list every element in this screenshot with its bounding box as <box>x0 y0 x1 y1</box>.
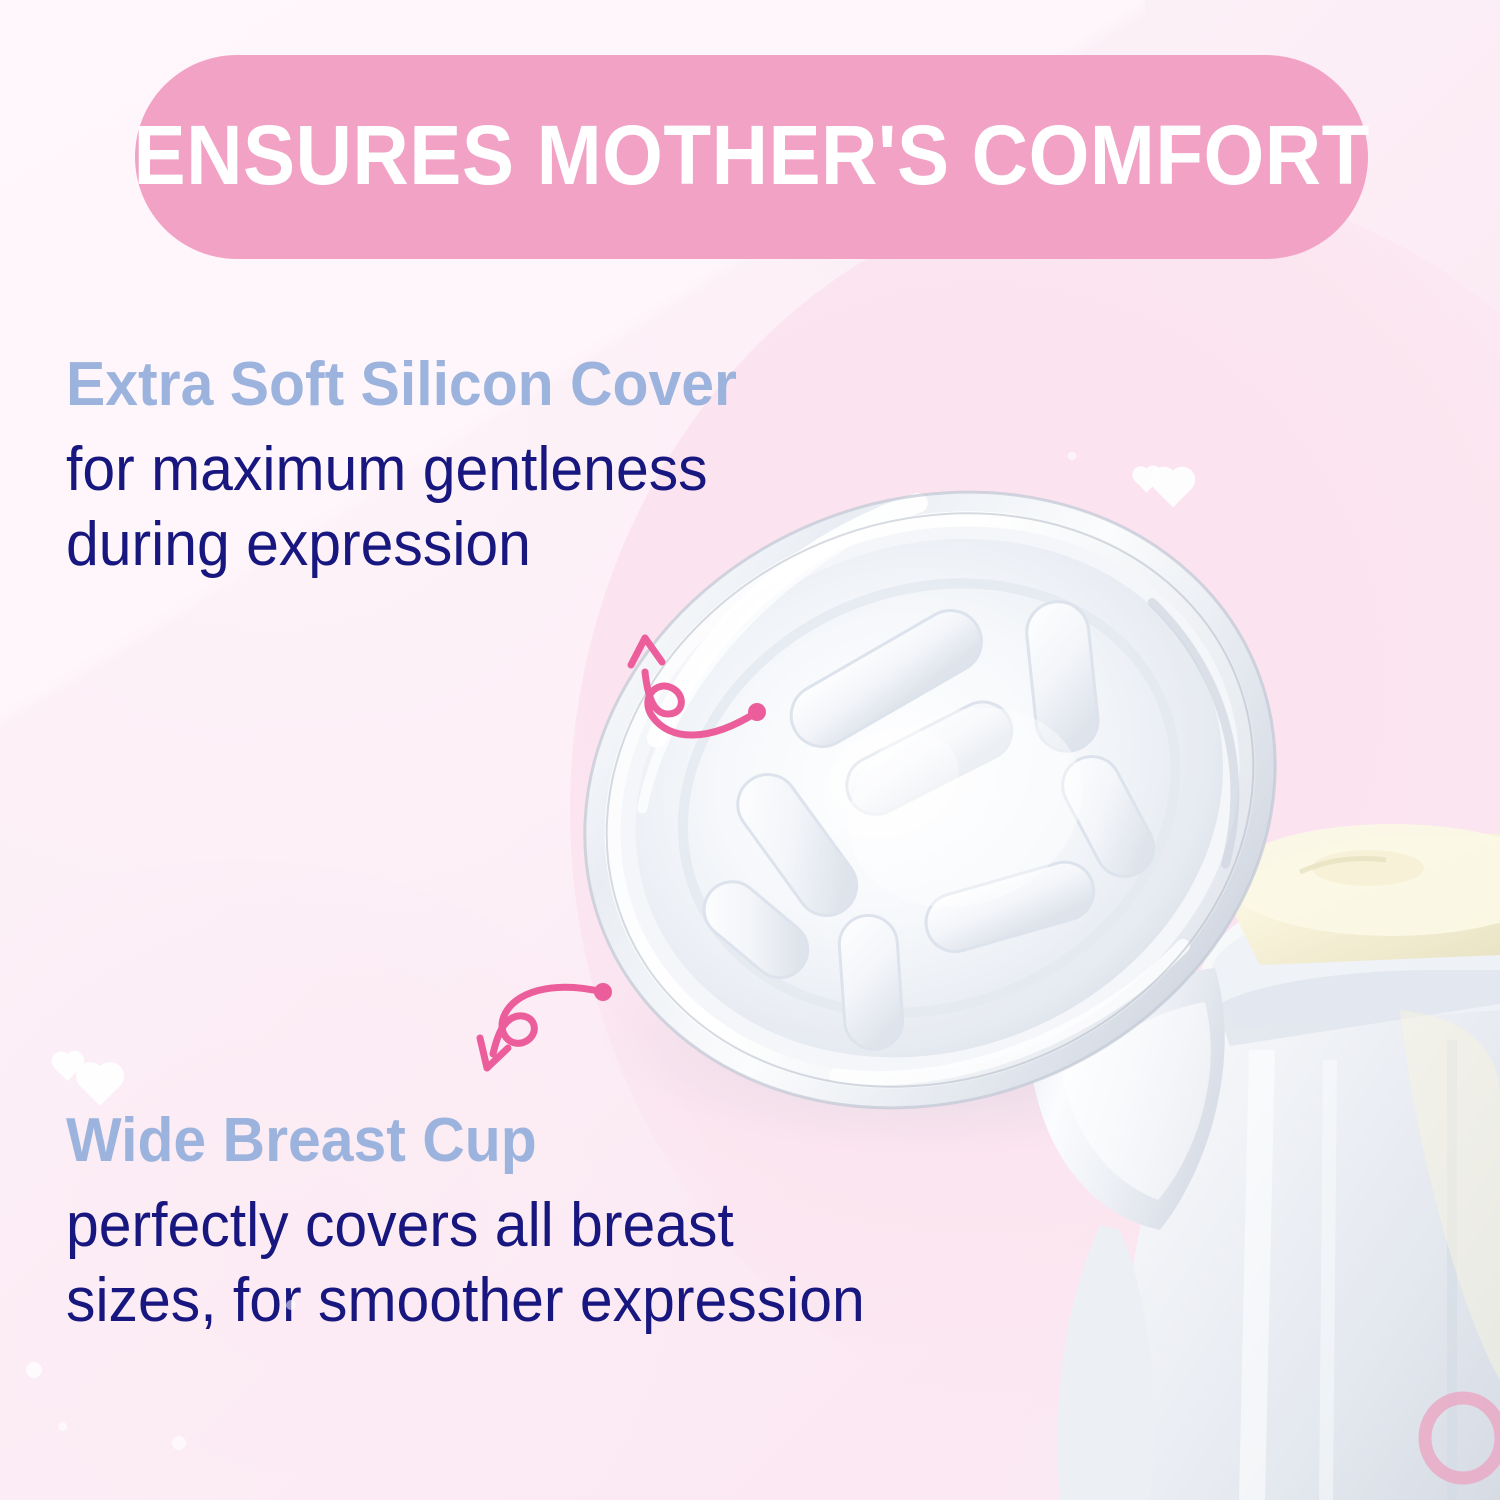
sparkle-dot <box>172 1436 186 1450</box>
feature-heading: Extra Soft Silicon Cover <box>66 352 883 418</box>
feature-body-line-2: during expression <box>66 507 883 583</box>
sparkle-dot <box>58 1422 67 1431</box>
banner-title: ENSURES MOTHER'S COMFORT <box>133 113 1369 201</box>
feature-body-line-1: for maximum gentleness <box>66 432 883 508</box>
feature-body-line-2: sizes, for smoother expression <box>66 1263 1016 1339</box>
sparkle-dot <box>286 1300 296 1310</box>
feature-block-wide-breast-cup: Wide Breast Cup perfectly covers all bre… <box>66 1108 1066 1339</box>
sparkle-dot <box>1068 452 1076 460</box>
sparkle-dot <box>26 1362 42 1378</box>
feature-heading: Wide Breast Cup <box>66 1108 1016 1174</box>
feature-body-line-1: perfectly covers all breast <box>66 1188 1016 1264</box>
feature-block-silicon-cover: Extra Soft Silicon Cover for maximum gen… <box>66 352 926 583</box>
infographic-canvas: ENSURES MOTHER'S COMFORT Extra Soft Sili… <box>0 0 1500 1500</box>
header-banner: ENSURES MOTHER'S COMFORT <box>135 55 1368 259</box>
